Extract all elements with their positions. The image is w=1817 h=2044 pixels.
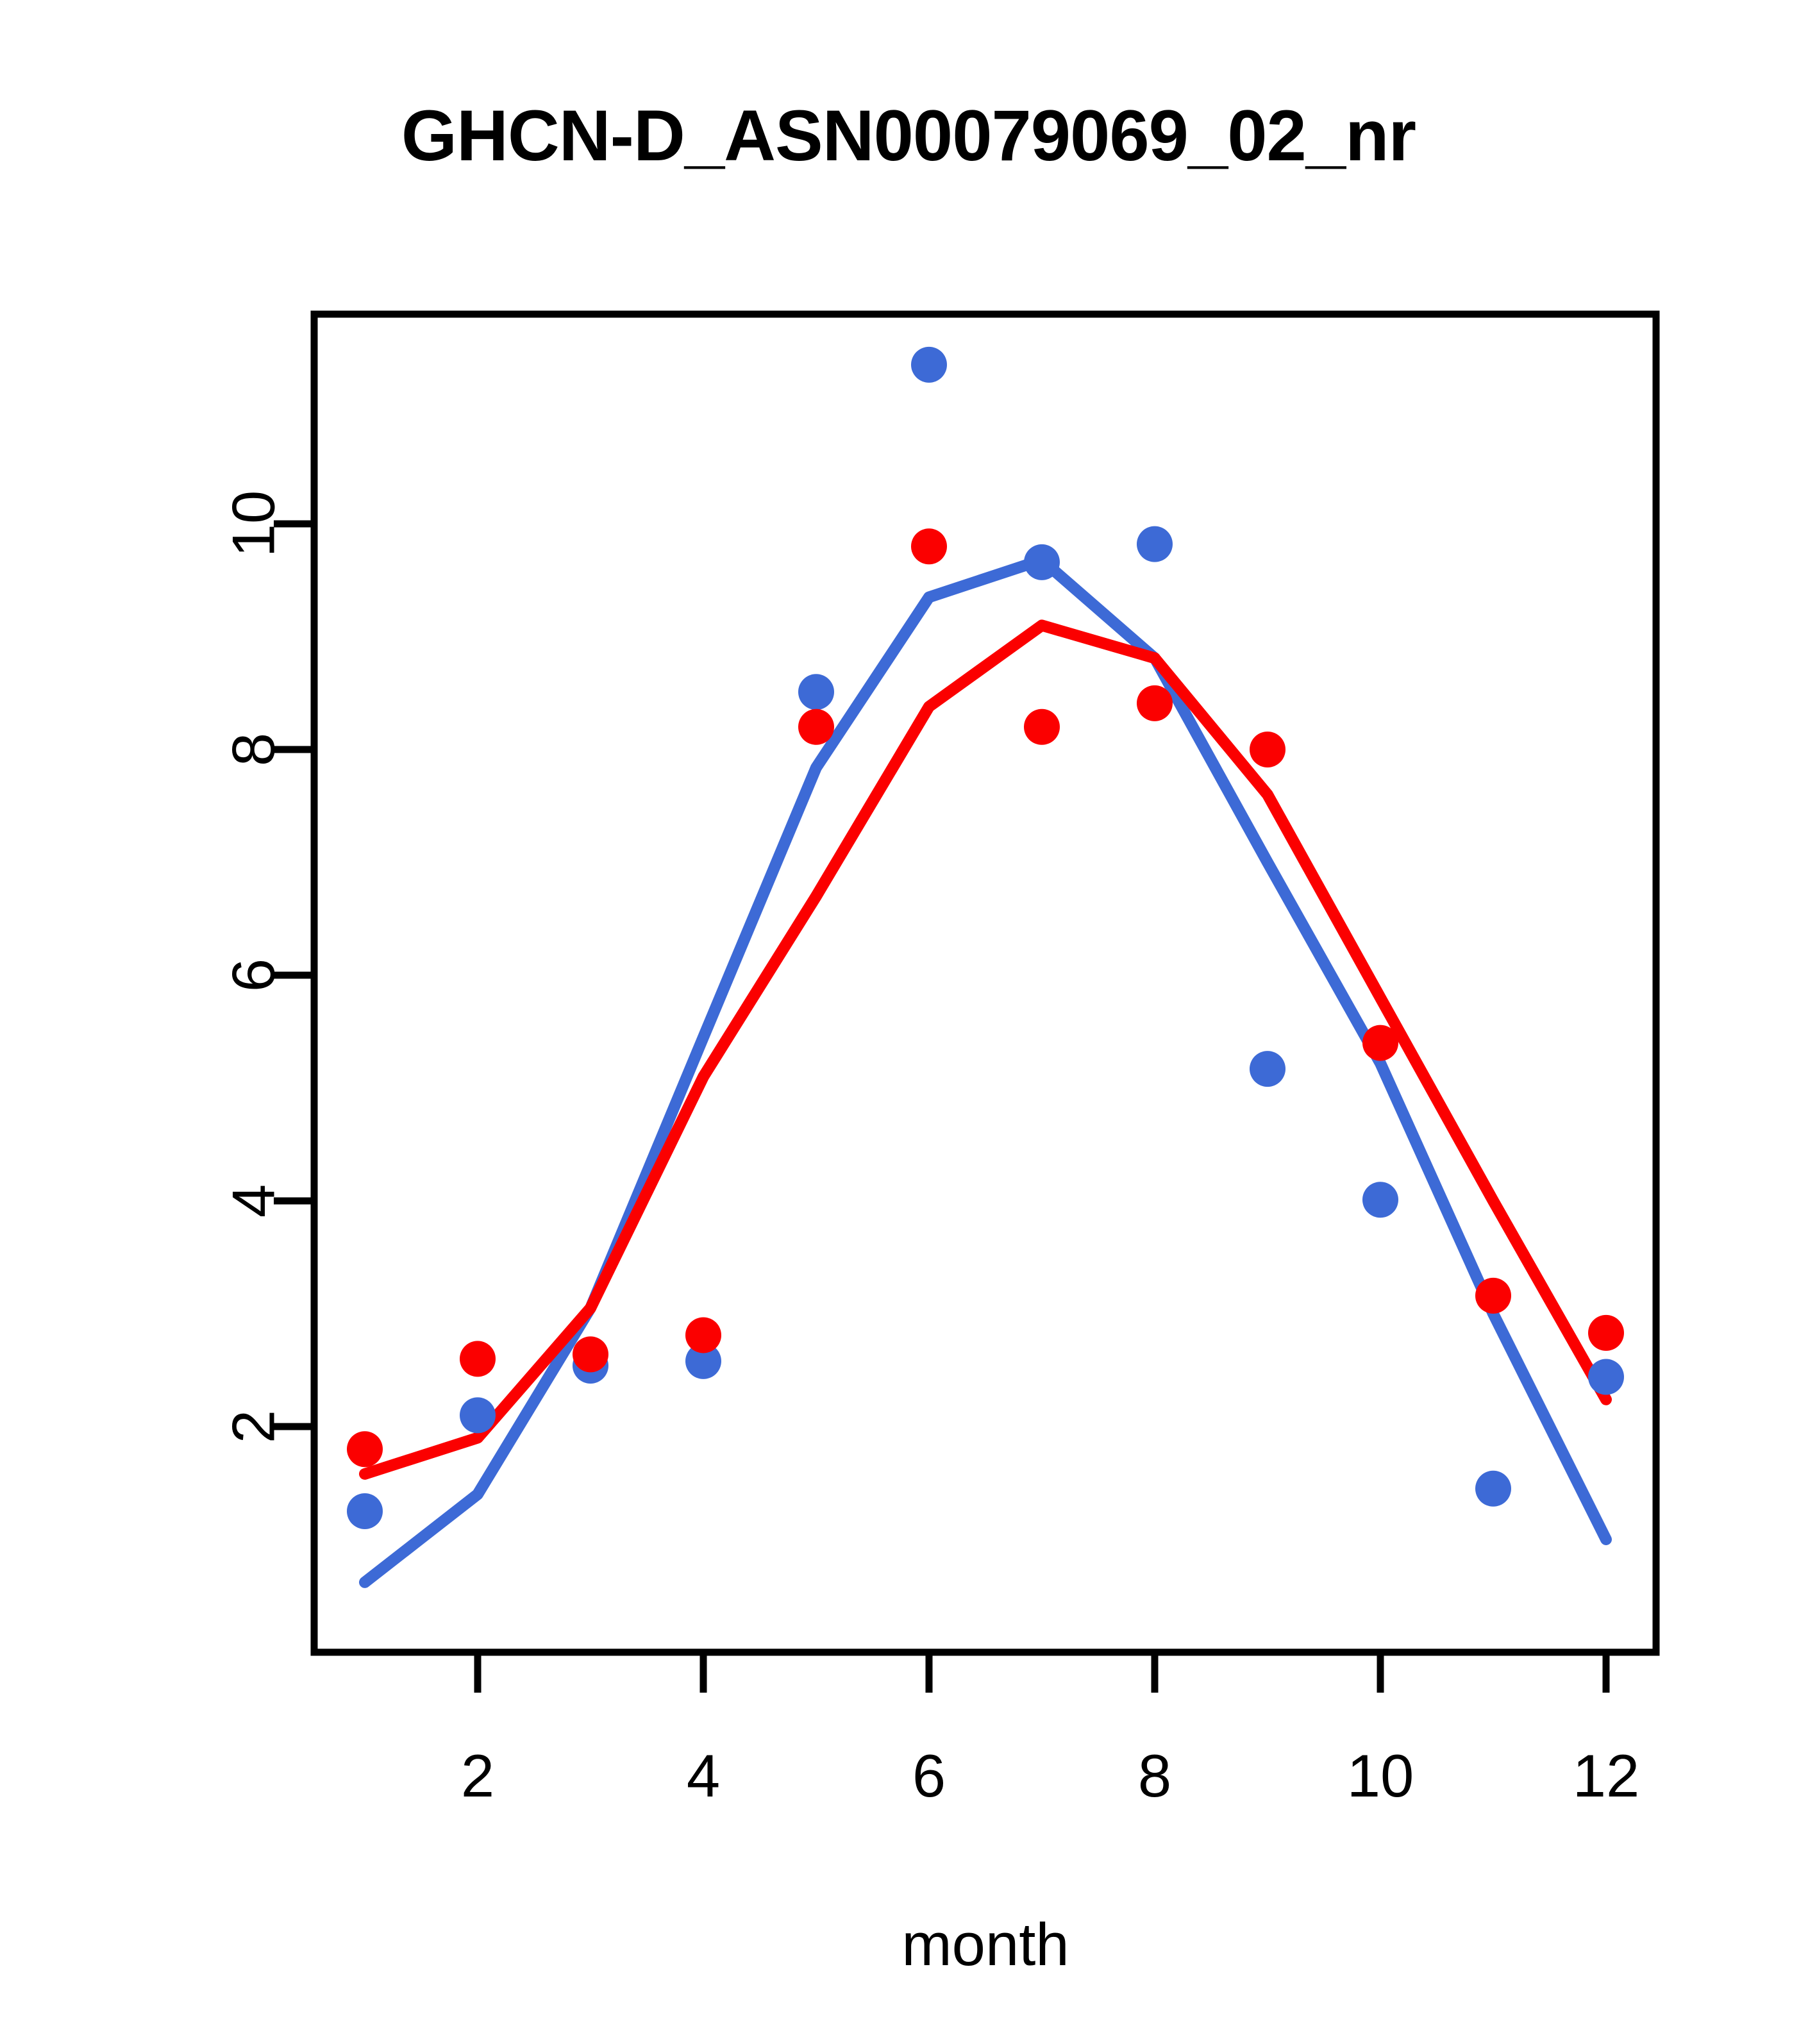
- data-point-red-points: [911, 528, 947, 564]
- y-tick-label: 2: [220, 1410, 287, 1443]
- data-point-blue-points: [798, 674, 834, 710]
- y-tick-label: 10: [220, 490, 287, 558]
- data-point-blue-points: [1137, 526, 1173, 562]
- x-tick-label: 10: [1347, 1742, 1414, 1809]
- data-point-red-points: [1475, 1278, 1511, 1314]
- data-point-blue-points: [1362, 1182, 1398, 1218]
- data-point-blue-points: [1588, 1359, 1624, 1395]
- chart-figure: GHCN-D_ASN00079069_02_nr 246810 24681012…: [0, 0, 1817, 2044]
- x-tick-label: 8: [1138, 1742, 1171, 1809]
- series-points: [347, 347, 1624, 1529]
- data-point-red-points: [798, 709, 834, 745]
- data-point-blue-points: [911, 347, 947, 383]
- series-line-red-line: [365, 625, 1606, 1474]
- plot-area: 246810 24681012 month: [0, 0, 1817, 2044]
- x-axis-tick-labels: 24681012: [461, 1742, 1639, 1809]
- x-axis-ticks: [478, 1652, 1606, 1693]
- plot-frame: [314, 314, 1656, 1652]
- data-point-red-points: [347, 1431, 383, 1467]
- x-tick-label: 6: [912, 1742, 946, 1809]
- data-point-red-points: [685, 1317, 721, 1353]
- data-point-blue-points: [1475, 1471, 1511, 1507]
- series-lines: [365, 560, 1606, 1582]
- data-point-red-points: [573, 1336, 608, 1372]
- data-point-red-points: [460, 1341, 496, 1377]
- y-tick-label: 6: [220, 959, 287, 992]
- y-tick-label: 8: [220, 733, 287, 766]
- data-point-blue-points: [460, 1397, 496, 1433]
- data-point-blue-points: [1250, 1051, 1285, 1087]
- data-point-blue-points: [1024, 544, 1060, 580]
- x-tick-label: 12: [1573, 1742, 1640, 1809]
- y-axis-tick-labels: 246810: [220, 490, 287, 1443]
- data-point-blue-points: [347, 1493, 383, 1529]
- x-tick-label: 4: [687, 1742, 720, 1809]
- data-point-red-points: [1024, 709, 1060, 745]
- y-tick-label: 4: [220, 1184, 287, 1218]
- data-point-red-points: [1588, 1315, 1624, 1351]
- x-axis-title: month: [901, 1911, 1069, 1978]
- data-point-red-points: [1137, 685, 1173, 721]
- data-point-red-points: [1250, 732, 1285, 767]
- data-point-red-points: [1362, 1025, 1398, 1061]
- x-tick-label: 2: [461, 1742, 494, 1809]
